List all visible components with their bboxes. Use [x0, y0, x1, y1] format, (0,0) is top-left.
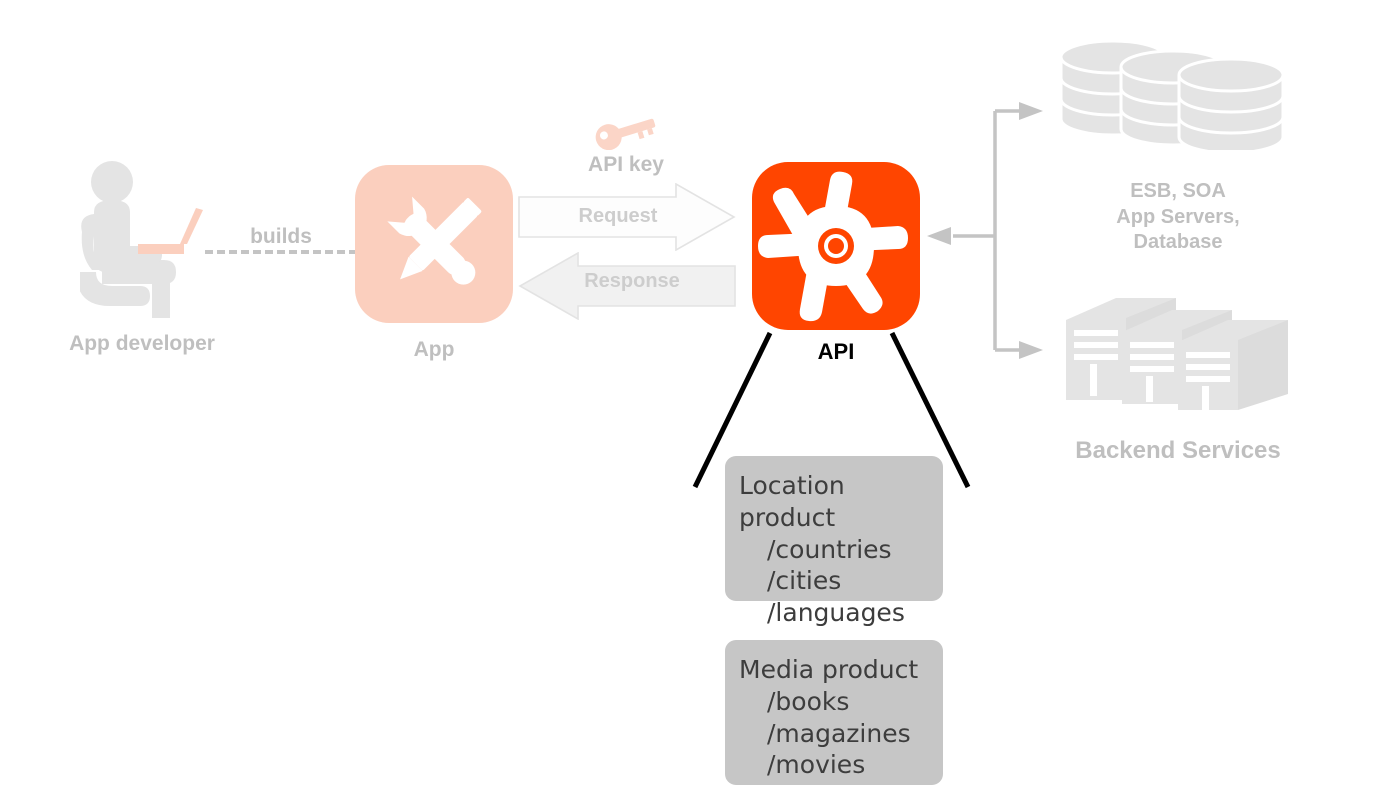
app-tile[interactable]	[355, 165, 513, 323]
media-product-path-movies: /movies	[739, 749, 925, 781]
location-product-path-cities: /cities	[739, 565, 925, 597]
media-product-title: Media product	[739, 654, 925, 686]
request-label: Request	[518, 205, 718, 228]
api-star-burst-icon	[752, 162, 920, 330]
backend-connector-lines	[925, 95, 1045, 365]
diagram-canvas: App developer builds App	[0, 0, 1382, 810]
app-label: App	[355, 337, 513, 364]
backend-services-label: Backend Services	[1040, 436, 1316, 467]
api-key-label: API key	[540, 152, 712, 179]
builds-label: builds	[205, 224, 357, 251]
location-product-title: Location product	[739, 470, 925, 534]
app-developer-icon	[80, 160, 210, 320]
location-product-path-languages: /languages	[739, 597, 925, 629]
key-icon	[592, 108, 658, 150]
media-product-box[interactable]: Media product /books /magazines /movies	[725, 640, 943, 785]
app-developer-label: App developer	[52, 331, 232, 358]
database-stack-icon	[1055, 35, 1305, 150]
response-label: Response	[532, 270, 732, 293]
location-product-box[interactable]: Location product /countries /cities /lan…	[725, 456, 943, 601]
api-tile[interactable]	[752, 162, 920, 330]
esb-soa-database-label: ESB, SOA App Servers, Database	[1050, 179, 1306, 256]
server-towers-icon	[1060, 292, 1300, 412]
media-product-path-magazines: /magazines	[739, 718, 925, 750]
media-product-path-books: /books	[739, 686, 925, 718]
location-product-path-countries: /countries	[739, 534, 925, 566]
